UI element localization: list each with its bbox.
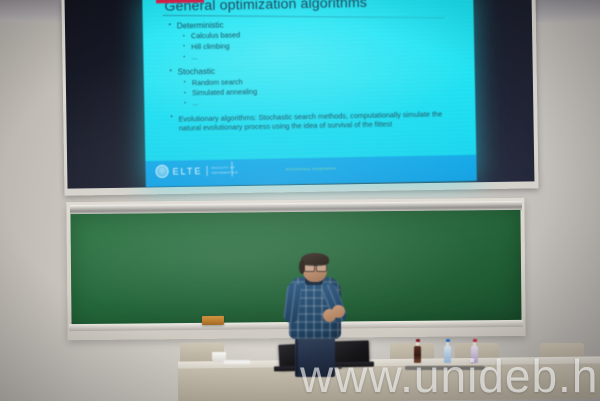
lecture-photo: General optimization algorithms Determin… [0, 0, 600, 401]
photo-vignette [0, 0, 600, 401]
